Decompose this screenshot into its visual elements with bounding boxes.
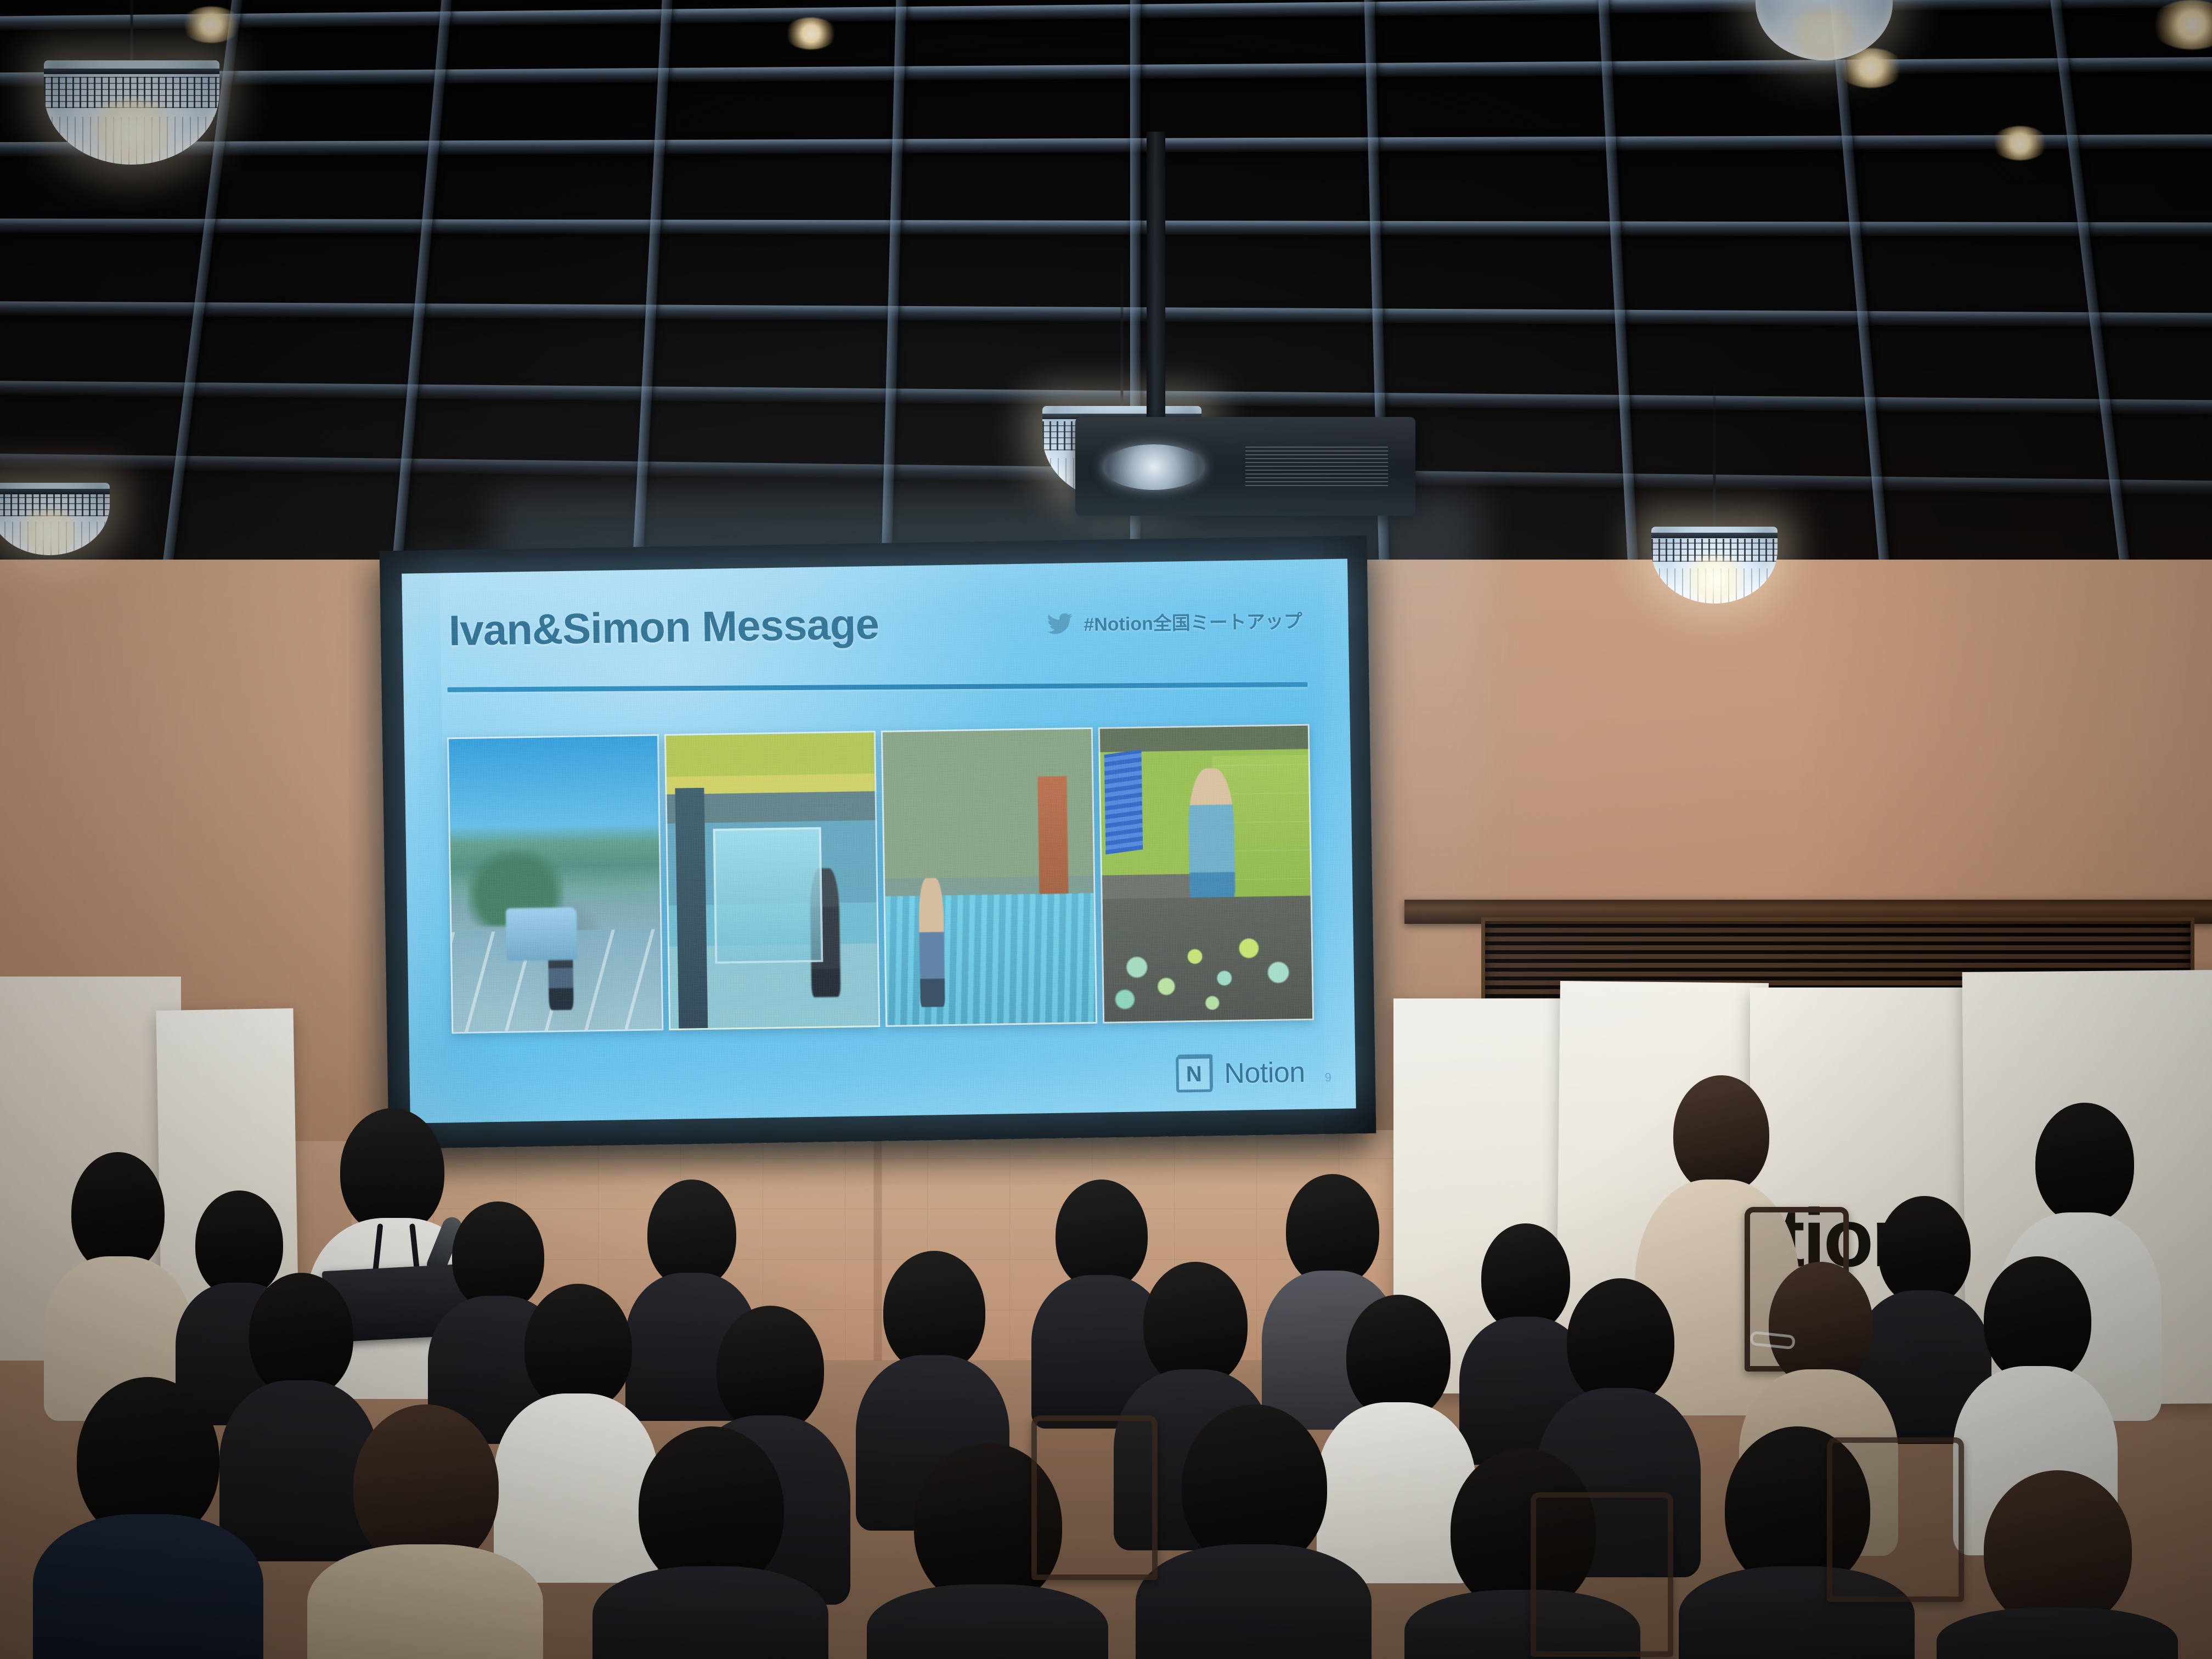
attendee-left-standing	[44, 1152, 192, 1415]
audience-head	[249, 1273, 353, 1398]
slide-photo-3: person browsing a refrigerated supermark…	[881, 727, 1097, 1027]
pendant-lamp	[1756, 0, 1893, 60]
audience-member-front	[1136, 1404, 1372, 1659]
photo1-cyclist	[547, 910, 573, 1010]
audience-body	[33, 1514, 263, 1659]
chair-back	[1827, 1437, 1964, 1602]
audience-body	[307, 1544, 543, 1659]
slide-photo-1: cyclist riding on a suburban street with…	[447, 734, 663, 1034]
pendant-lamp	[44, 60, 219, 165]
recessed-downlight	[1991, 126, 2049, 160]
pendant-lamp	[0, 483, 110, 555]
audience-member-front	[592, 1426, 828, 1659]
projection-screen-frame: Ivan&Simon Message #Notion全国ミートアップ cycli…	[380, 535, 1376, 1149]
audience-head	[1346, 1295, 1451, 1420]
recessed-downlight	[181, 7, 241, 43]
lamp-cord	[1121, 263, 1124, 406]
hashtag-text: #Notion全国ミートアップ	[1084, 606, 1302, 636]
audience-head	[1984, 1470, 2132, 1629]
chair-back	[1031, 1415, 1158, 1580]
audience-body	[1937, 1607, 2178, 1659]
projection-screen-surface: Ivan&Simon Message #Notion全国ミートアップ cycli…	[402, 558, 1356, 1123]
audience-member-front	[33, 1377, 263, 1659]
audience-head	[883, 1251, 985, 1373]
slide-footer-logo: N Notion	[1176, 1054, 1305, 1093]
lamp-glow	[1675, 555, 1754, 603]
lamp-rim	[44, 69, 219, 74]
lamp-bowl	[1651, 527, 1778, 603]
notion-cube-letter: N	[1178, 1059, 1210, 1090]
presentation-slide: Ivan&Simon Message #Notion全国ミートアップ cycli…	[402, 558, 1356, 1123]
slide-page-number: 9	[1324, 1070, 1331, 1085]
notion-wordmark: Notion	[1224, 1056, 1305, 1090]
audience-head	[716, 1306, 824, 1433]
lamp-bowl	[44, 60, 219, 165]
attendee-head	[71, 1152, 165, 1273]
photo4-feast	[1102, 895, 1312, 1022]
lamp-glow	[1782, 9, 1867, 60]
slide-photo-4: man in yukata seated at a traditional Ja…	[1098, 724, 1314, 1024]
slide-title-underline	[448, 682, 1308, 692]
photo4-shoji	[1104, 749, 1143, 854]
lamp-glow	[12, 510, 87, 555]
slide-title: Ivan&Simon Message	[448, 602, 879, 652]
audience-head	[1769, 1262, 1873, 1387]
ceiling-projector	[1075, 417, 1415, 516]
photo2-shopper	[809, 868, 840, 997]
audience-head	[1286, 1174, 1379, 1286]
lamp-cord	[131, 0, 133, 60]
twitter-bird-icon	[1045, 611, 1075, 636]
audience-head	[1984, 1256, 2091, 1384]
audience-member-front	[1937, 1470, 2178, 1659]
audience-head	[524, 1284, 632, 1411]
lamp-glow	[77, 99, 186, 164]
lamp-rim	[0, 489, 110, 494]
attendee-head	[2035, 1103, 2134, 1223]
audience-body	[1136, 1544, 1372, 1659]
slide-photo-2: convenience store entrance with yellow a…	[664, 731, 880, 1030]
projector-vent	[1245, 447, 1388, 486]
audience-head	[647, 1180, 736, 1288]
photo4-person	[1188, 768, 1236, 910]
lamp-bowl	[1756, 0, 1893, 60]
audience-head	[1567, 1278, 1674, 1406]
projector-lens	[1103, 444, 1205, 490]
audience-head	[1143, 1262, 1248, 1387]
recessed-downlight	[785, 18, 837, 49]
lamp-bowl	[0, 483, 110, 555]
slide-header: Ivan&Simon Message #Notion全国ミートアップ	[441, 590, 1310, 652]
audience-body	[592, 1566, 828, 1659]
photo3-sign	[1037, 776, 1068, 894]
screenshot-root: Ivan&Simon Message #Notion全国ミートアップ cycli…	[0, 0, 2212, 1659]
audience-member-front	[307, 1404, 543, 1659]
slide-hashtag: #Notion全国ミートアップ	[1045, 606, 1302, 637]
audience-body	[867, 1584, 1108, 1659]
lamp-rim	[1651, 533, 1778, 538]
slide-photo-row: cyclist riding on a suburban street with…	[447, 724, 1314, 1034]
attendee-head	[1673, 1075, 1769, 1193]
notion-cube-icon: N	[1176, 1056, 1212, 1092]
photo3-shopper	[918, 878, 945, 1007]
chair-back	[1531, 1492, 1673, 1657]
lamp-cord	[1713, 384, 1716, 527]
pendant-lamp	[1651, 527, 1778, 603]
